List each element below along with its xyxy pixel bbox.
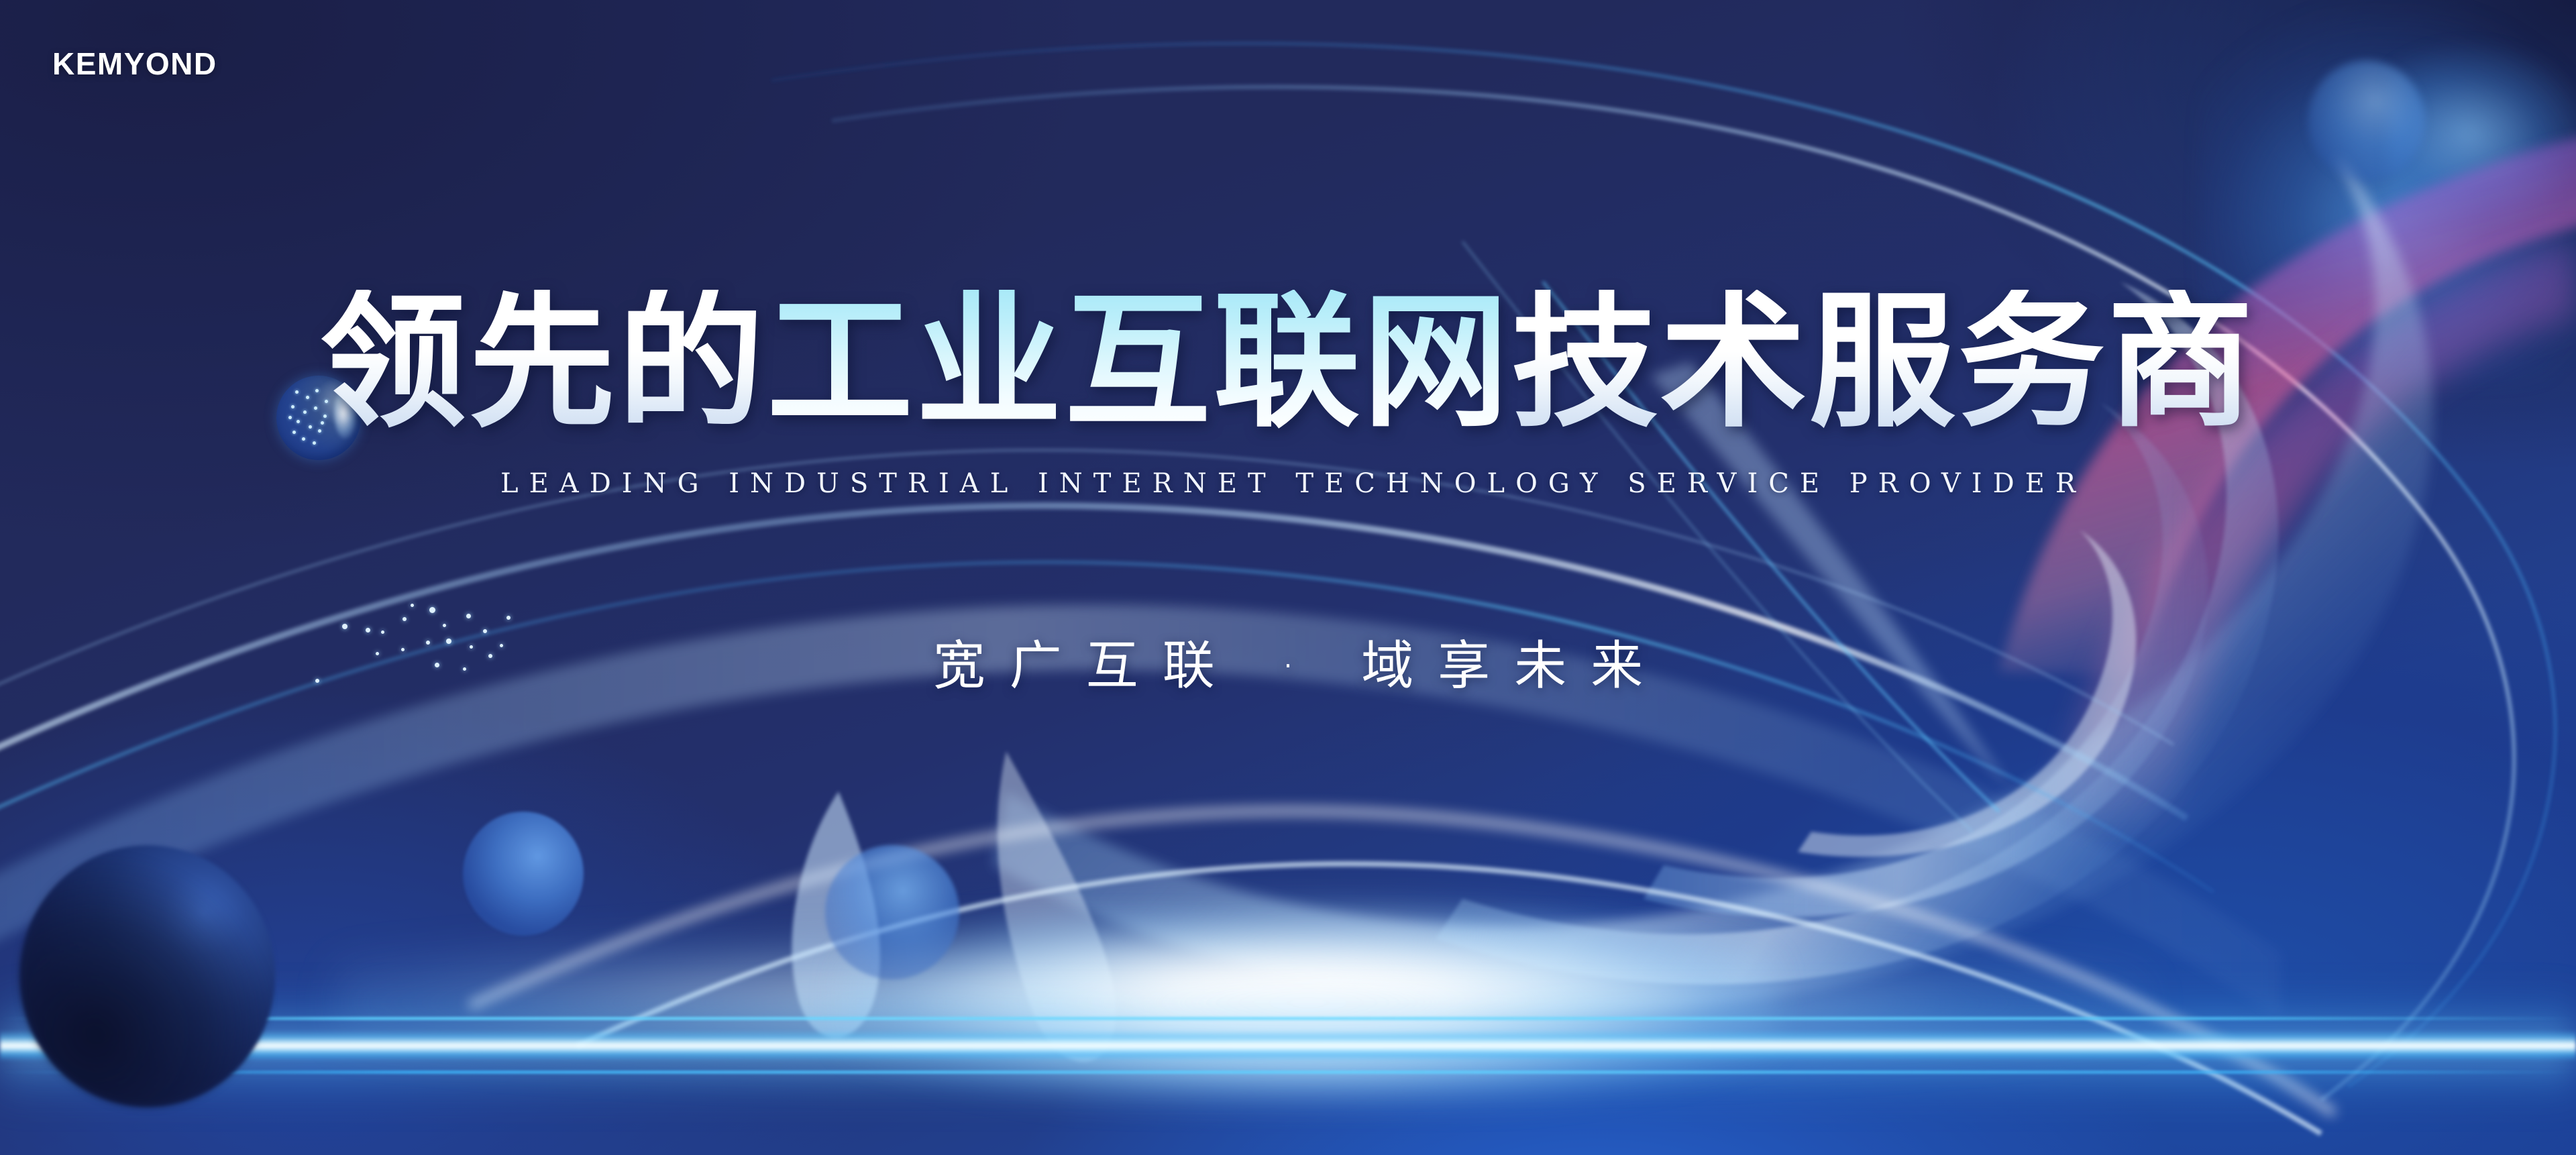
company-logo: KEMYOND [52, 46, 217, 82]
headline-segment-highlight: 工业互联网 [767, 290, 1511, 436]
tagline: 宽广互联 · 域享未来 [0, 624, 2576, 699]
particle-dots-layer [0, 0, 2576, 1155]
page-title: 领先的工业互联网技术服务商 [0, 290, 2576, 436]
headline-segment-tail: 技术服务商 [1511, 290, 2256, 436]
promotional-banner: KEMYOND 领先的工业互联网技术服务商 LEADING INDUSTRIAL… [0, 0, 2576, 1155]
english-subtitle: LEADING INDUSTRIAL INTERNET TECHNOLOGY S… [0, 468, 2576, 499]
headline-segment-leading: 领先的 [320, 290, 767, 436]
